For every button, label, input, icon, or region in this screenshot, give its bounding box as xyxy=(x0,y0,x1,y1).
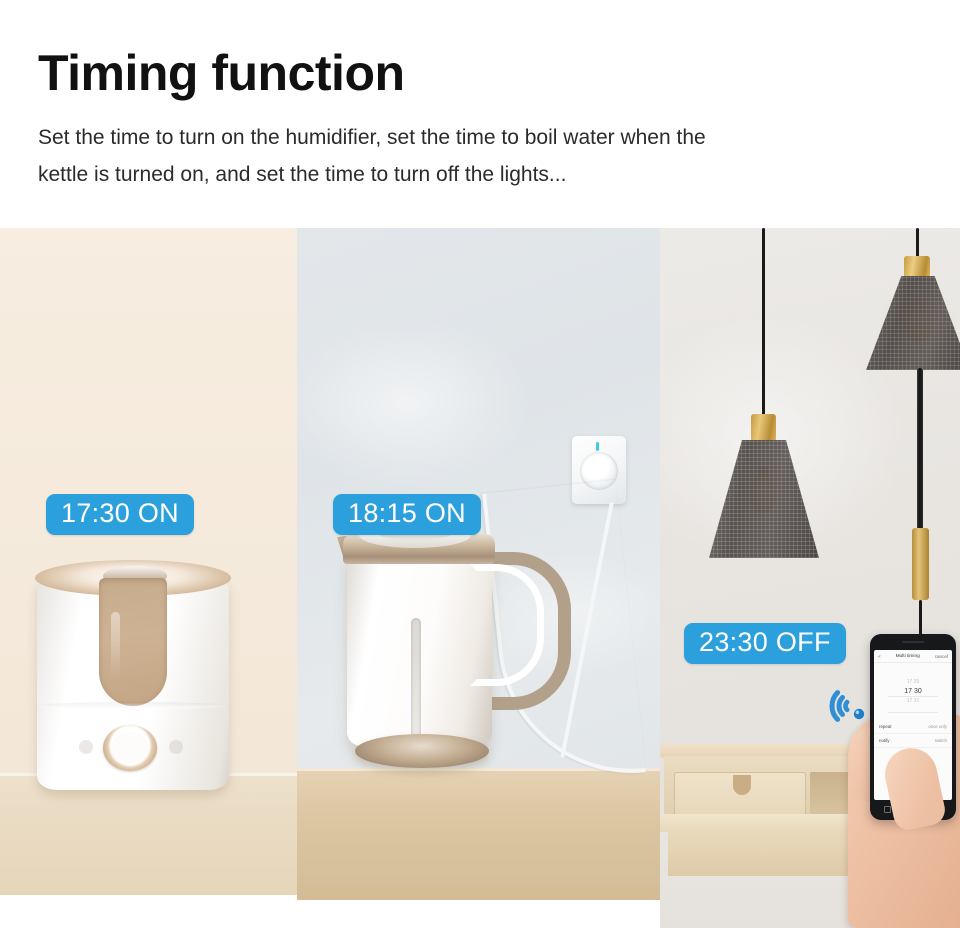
kettle-table xyxy=(297,768,660,900)
page-subtitle: Set the time to turn on the humidifier, … xyxy=(38,120,898,194)
kettle-power-base xyxy=(355,734,489,768)
time-option-above[interactable]: 17 29 xyxy=(907,679,920,685)
list-item[interactable]: repeat once only xyxy=(874,720,952,734)
app-settings-list: repeat once only notify switch xyxy=(874,720,952,748)
wall-lamp-brass-band xyxy=(912,528,929,600)
humidifier-seam xyxy=(39,702,227,709)
kettle-water-gauge xyxy=(411,618,421,738)
electric-kettle xyxy=(337,506,547,776)
pendant-lamp-cord xyxy=(762,228,765,418)
humidifier-control-knob xyxy=(103,725,157,771)
pendant-lamp-socket xyxy=(751,414,776,442)
humidifier-water-window xyxy=(99,578,167,706)
page-subtitle-line-2: kettle is turned on, and set the time to… xyxy=(38,157,898,194)
list-item[interactable]: notify switch xyxy=(874,734,952,748)
app-cancel-button[interactable]: cancel xyxy=(935,654,948,659)
kettle-handle-inner xyxy=(470,564,544,686)
humidifier-device xyxy=(33,550,233,795)
app-back-icon[interactable]: < xyxy=(878,654,881,659)
page-title: Timing function xyxy=(38,48,960,98)
phone-earpiece xyxy=(902,641,924,643)
setting-label: repeat xyxy=(879,724,891,729)
humidifier-window-highlight xyxy=(111,612,120,678)
panel-2-bottom-margin xyxy=(297,900,660,928)
panel-kettle xyxy=(297,228,660,928)
picker-divider-top xyxy=(888,696,938,697)
humidifier-power-button xyxy=(79,740,93,754)
socket-indicator-led xyxy=(596,442,599,451)
humidifier-timer-button xyxy=(169,740,183,754)
badge-lights-time: 23:30 OFF xyxy=(684,623,846,664)
badge-kettle-time: 18:15 ON xyxy=(333,494,481,535)
wall-lamp-socket xyxy=(904,256,930,278)
page-header: Timing function Set the time to turn on … xyxy=(0,0,960,194)
setting-label: notify xyxy=(879,738,890,743)
page-subtitle-line-1: Set the time to turn on the humidifier, … xyxy=(38,120,898,157)
time-option-selected[interactable]: 17 30 xyxy=(904,688,922,695)
photo-strip: < Multi timing cancel 17 29 17 30 17 31 … xyxy=(0,228,960,928)
panel-lights: < Multi timing cancel 17 29 17 30 17 31 … xyxy=(660,228,960,928)
setting-value: switch xyxy=(935,738,947,743)
setting-value: once only xyxy=(928,724,947,729)
nav-recents-icon[interactable] xyxy=(884,806,891,813)
console-drawer-handle xyxy=(733,775,751,795)
app-time-picker[interactable]: 17 29 17 30 17 31 xyxy=(874,665,952,717)
panel-1-bottom-margin xyxy=(0,895,297,928)
picker-divider-bottom xyxy=(888,712,938,713)
app-title: Multi timing xyxy=(896,654,920,659)
app-top-bar: < Multi timing cancel xyxy=(874,650,952,663)
panel-humidifier xyxy=(0,228,297,928)
time-option-below[interactable]: 17 31 xyxy=(907,698,920,704)
badge-humidifier-time: 17:30 ON xyxy=(46,494,194,535)
